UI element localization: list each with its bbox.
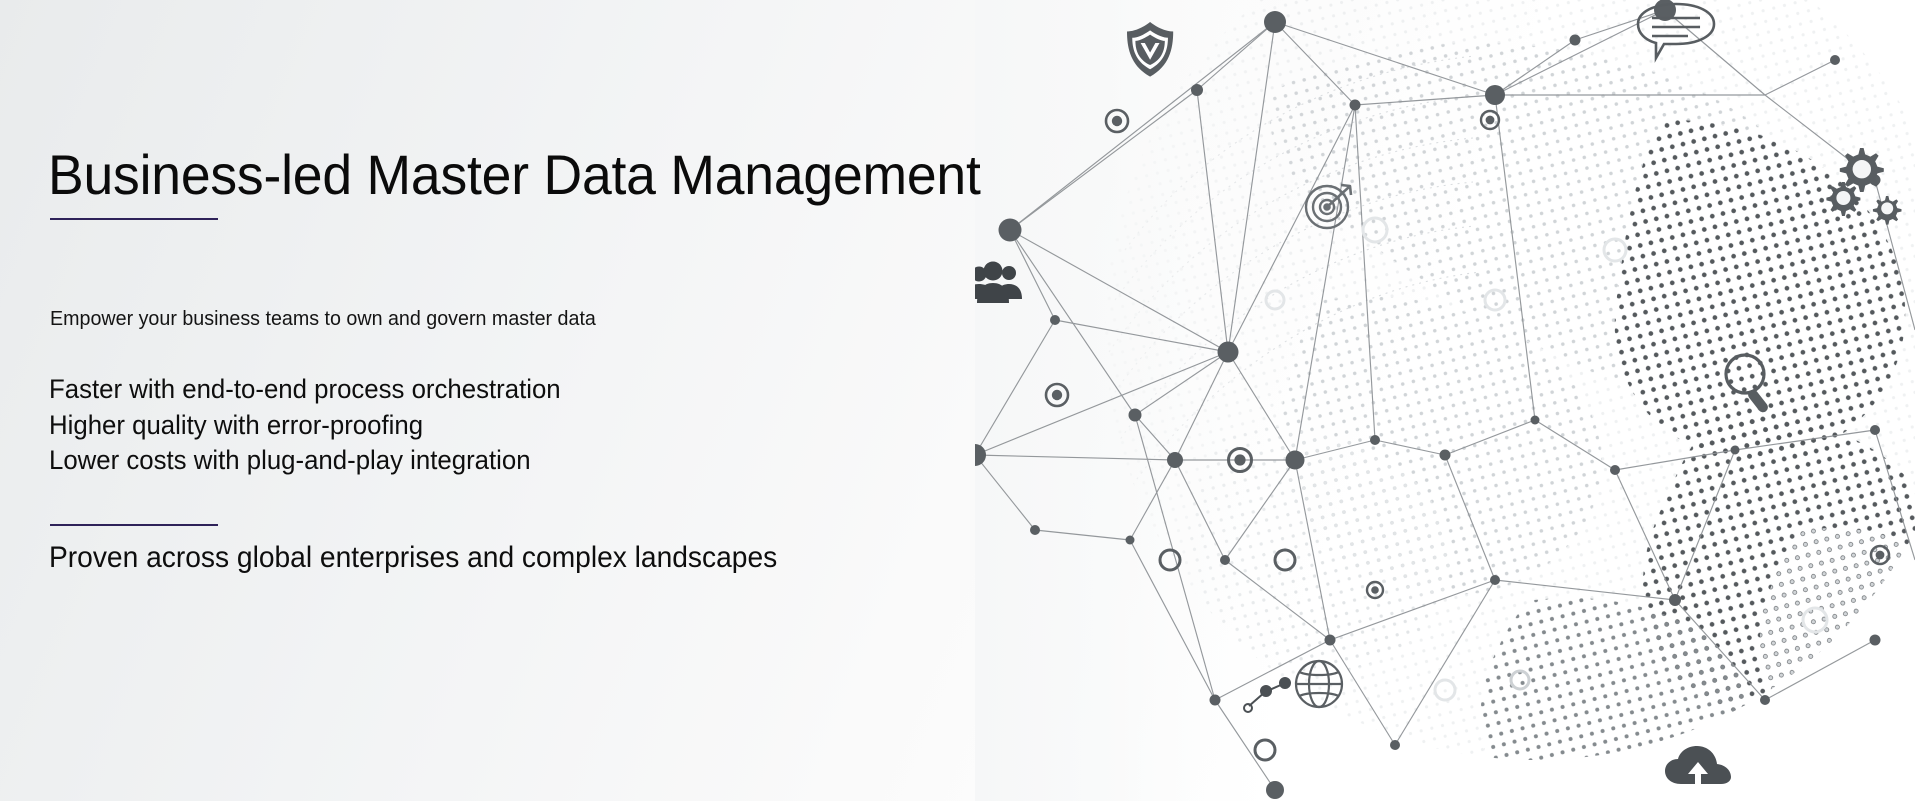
target-icon	[1306, 185, 1351, 228]
cloud-upload-icon	[1665, 746, 1731, 786]
page-title: Business-led Master Data Management	[48, 145, 981, 205]
closing-statement: Proven across global enterprises and com…	[49, 541, 777, 575]
network-links	[975, 10, 1915, 790]
globe-wire-icon	[1296, 661, 1342, 707]
speech-bubble-icon	[1638, 4, 1714, 58]
magnifier-icon	[1726, 355, 1770, 414]
divider-bottom	[50, 524, 218, 526]
halo-nodes	[1266, 218, 1827, 700]
halftone-sphere	[1105, 0, 1915, 800]
subtitle-text: Empower your business teams to own and g…	[50, 307, 596, 331]
network-nodes	[975, 0, 1881, 799]
text-content: Business-led Master Data Management Empo…	[48, 0, 1048, 801]
list-item: Higher quality with error-proofing	[49, 408, 561, 444]
shield-check-icon	[1127, 22, 1173, 77]
divider-top	[50, 218, 218, 220]
network-globe-graphic	[975, 0, 1915, 801]
share-nodes-icon	[1244, 678, 1290, 712]
list-item: Lower costs with plug-and-play integrati…	[49, 443, 561, 479]
slide-canvas: Business-led Master Data Management Empo…	[0, 0, 1915, 801]
list-item: Faster with end-to-end process orchestra…	[49, 372, 561, 408]
network-ring-nodes	[1046, 110, 1889, 760]
gears-icon	[1826, 148, 1901, 225]
benefit-list: Faster with end-to-end process orchestra…	[49, 372, 585, 479]
